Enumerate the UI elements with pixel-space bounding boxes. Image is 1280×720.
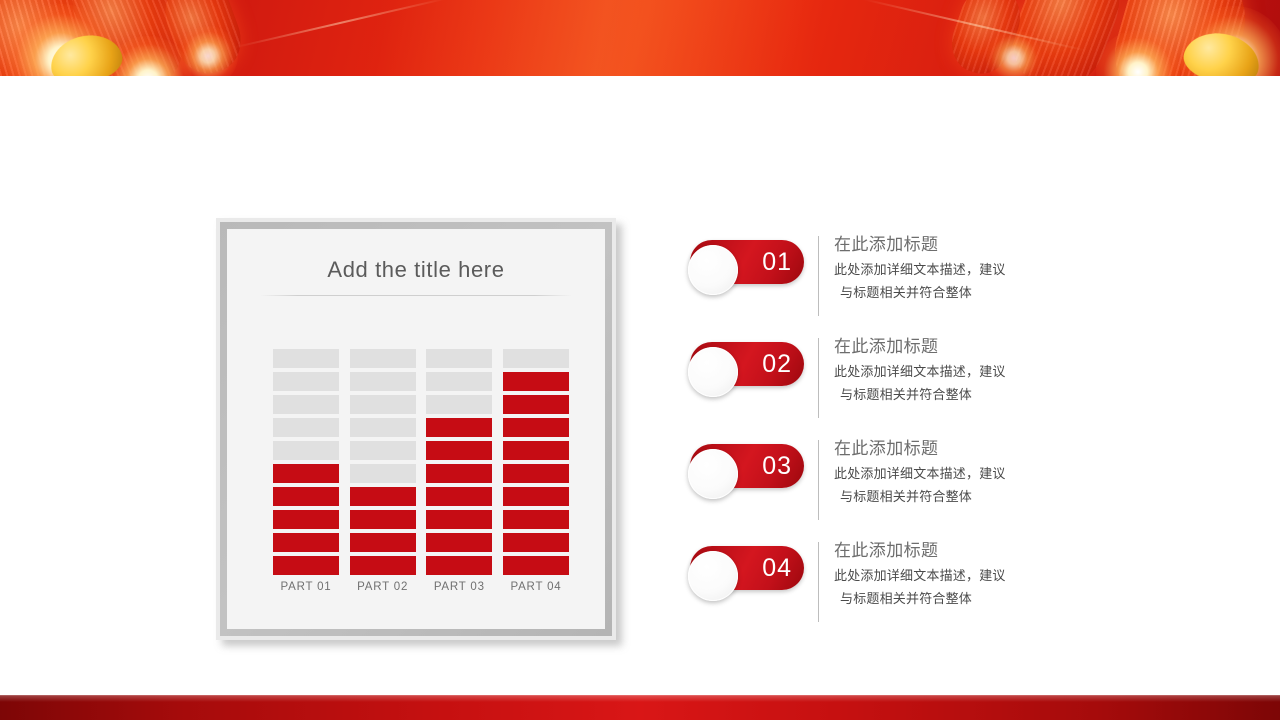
chart-segment-filled bbox=[503, 418, 569, 437]
item-title: 在此添加标题 bbox=[834, 538, 1099, 564]
chart-segment-empty bbox=[426, 349, 492, 368]
number-badge[interactable]: 04 bbox=[690, 546, 804, 590]
chart-segment-filled bbox=[426, 533, 492, 552]
item-divider bbox=[818, 542, 819, 622]
badge-knob-icon bbox=[688, 245, 738, 295]
item-divider bbox=[818, 338, 819, 418]
chart-segment-filled bbox=[503, 487, 569, 506]
title-divider bbox=[260, 295, 572, 296]
chart-segment-filled bbox=[273, 510, 339, 529]
item-divider bbox=[818, 236, 819, 316]
badge-number: 02 bbox=[762, 342, 792, 386]
item-title: 在此添加标题 bbox=[834, 232, 1099, 258]
chart-panel: Add the title here PART 01PART 02PART 03… bbox=[216, 218, 616, 640]
chart-segment-filled bbox=[503, 372, 569, 391]
badge-number: 03 bbox=[762, 444, 792, 488]
segmented-bar-chart bbox=[273, 337, 569, 575]
chart-segment-filled bbox=[350, 510, 416, 529]
chart-segment-empty bbox=[350, 372, 416, 391]
chart-column bbox=[273, 349, 339, 575]
top-decorative-banner bbox=[0, 0, 1280, 76]
number-badge[interactable]: 01 bbox=[690, 240, 804, 284]
chart-segment-filled bbox=[503, 441, 569, 460]
badge-knob-icon bbox=[688, 449, 738, 499]
item-title: 在此添加标题 bbox=[834, 436, 1099, 462]
panel-title: Add the title here bbox=[227, 229, 605, 283]
chart-segment-empty bbox=[350, 349, 416, 368]
chart-category-labels: PART 01PART 02PART 03PART 04 bbox=[273, 581, 569, 593]
chart-segment-empty bbox=[350, 441, 416, 460]
item-description-line-2: 与标题相关并符合整体 bbox=[834, 587, 1099, 610]
item-divider bbox=[818, 440, 819, 520]
item-description-line-2: 与标题相关并符合整体 bbox=[834, 281, 1099, 304]
chart-segment-filled bbox=[273, 487, 339, 506]
panel-frame: Add the title here PART 01PART 02PART 03… bbox=[216, 218, 616, 640]
chart-segment-filled bbox=[350, 487, 416, 506]
item-description-line-2: 与标题相关并符合整体 bbox=[834, 485, 1099, 508]
chart-segment-filled bbox=[273, 556, 339, 575]
badge-number: 04 bbox=[762, 546, 792, 590]
item-text-block: 在此添加标题此处添加详细文本描述，建议与标题相关并符合整体 bbox=[834, 538, 1099, 610]
item-text-block: 在此添加标题此处添加详细文本描述，建议与标题相关并符合整体 bbox=[834, 232, 1099, 304]
chart-category-label: PART 02 bbox=[350, 581, 416, 593]
chart-segment-empty bbox=[350, 464, 416, 483]
chart-segment-empty bbox=[273, 372, 339, 391]
panel-frame-bevel: Add the title here PART 01PART 02PART 03… bbox=[220, 222, 612, 636]
item-description-line-1: 此处添加详细文本描述，建议 bbox=[834, 462, 1099, 485]
bottom-bar-highlight bbox=[0, 696, 1280, 702]
item-description-line-1: 此处添加详细文本描述，建议 bbox=[834, 258, 1099, 281]
panel-surface: Add the title here PART 01PART 02PART 03… bbox=[227, 229, 605, 629]
item-description-line-1: 此处添加详细文本描述，建议 bbox=[834, 360, 1099, 383]
chart-segment-filled bbox=[426, 510, 492, 529]
chart-segment-empty bbox=[426, 372, 492, 391]
chart-segment-filled bbox=[503, 510, 569, 529]
chart-segment-filled bbox=[503, 533, 569, 552]
chart-category-label: PART 03 bbox=[426, 581, 492, 593]
bottom-decorative-bar bbox=[0, 695, 1280, 720]
item-text-block: 在此添加标题此处添加详细文本描述，建议与标题相关并符合整体 bbox=[834, 436, 1099, 508]
chart-segment-filled bbox=[426, 556, 492, 575]
chart-segment-empty bbox=[503, 349, 569, 368]
chart-segment-filled bbox=[426, 418, 492, 437]
chart-column bbox=[503, 349, 569, 575]
chart-segment-filled bbox=[273, 464, 339, 483]
list-item[interactable]: 03在此添加标题此处添加详细文本描述，建议与标题相关并符合整体 bbox=[690, 436, 1110, 538]
chart-segment-empty bbox=[273, 349, 339, 368]
chart-segment-filled bbox=[426, 487, 492, 506]
chart-segment-filled bbox=[503, 464, 569, 483]
list-item[interactable]: 02在此添加标题此处添加详细文本描述，建议与标题相关并符合整体 bbox=[690, 334, 1110, 436]
chart-segment-filled bbox=[273, 533, 339, 552]
chart-column bbox=[350, 349, 416, 575]
item-title: 在此添加标题 bbox=[834, 334, 1099, 360]
numbered-list: 01在此添加标题此处添加详细文本描述，建议与标题相关并符合整体02在此添加标题此… bbox=[690, 232, 1110, 640]
chart-column bbox=[426, 349, 492, 575]
chart-segment-filled bbox=[503, 556, 569, 575]
list-item[interactable]: 01在此添加标题此处添加详细文本描述，建议与标题相关并符合整体 bbox=[690, 232, 1110, 334]
chart-category-label: PART 04 bbox=[503, 581, 569, 593]
item-text-block: 在此添加标题此处添加详细文本描述，建议与标题相关并符合整体 bbox=[834, 334, 1099, 406]
number-badge[interactable]: 03 bbox=[690, 444, 804, 488]
item-description-line-2: 与标题相关并符合整体 bbox=[834, 383, 1099, 406]
chart-segment-empty bbox=[273, 395, 339, 414]
number-badge[interactable]: 02 bbox=[690, 342, 804, 386]
chart-segment-empty bbox=[350, 418, 416, 437]
chart-segment-empty bbox=[350, 395, 416, 414]
chart-segment-empty bbox=[273, 441, 339, 460]
badge-knob-icon bbox=[688, 551, 738, 601]
chart-category-label: PART 01 bbox=[273, 581, 339, 593]
chart-segment-filled bbox=[503, 395, 569, 414]
badge-knob-icon bbox=[688, 347, 738, 397]
slide-root: Add the title here PART 01PART 02PART 03… bbox=[0, 0, 1280, 720]
chart-segment-filled bbox=[350, 533, 416, 552]
list-item[interactable]: 04在此添加标题此处添加详细文本描述，建议与标题相关并符合整体 bbox=[690, 538, 1110, 640]
chart-segment-filled bbox=[426, 464, 492, 483]
chart-segment-filled bbox=[426, 441, 492, 460]
chart-segment-filled bbox=[350, 556, 416, 575]
chart-segment-empty bbox=[426, 395, 492, 414]
item-description-line-1: 此处添加详细文本描述，建议 bbox=[834, 564, 1099, 587]
chart-segment-empty bbox=[273, 418, 339, 437]
badge-number: 01 bbox=[762, 240, 792, 284]
